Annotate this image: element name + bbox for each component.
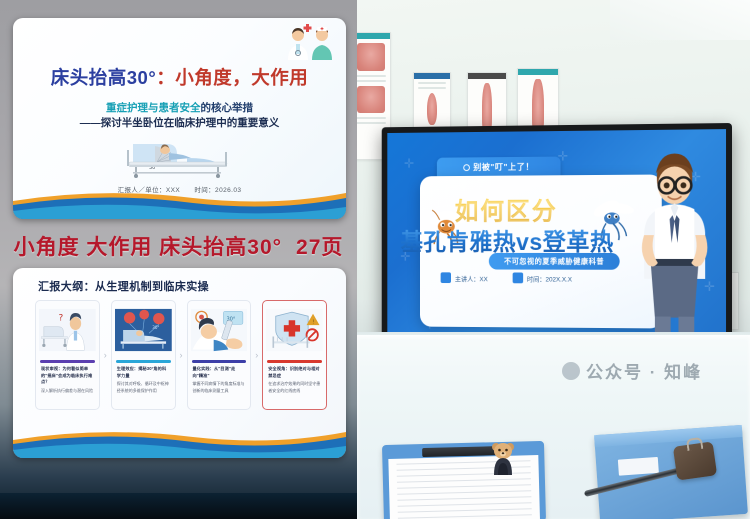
svg-text:?: ? [58, 313, 63, 323]
tv-speaker-meta: 主讲人：XX [441, 272, 488, 283]
card-thumbnail-bed-question: ? [39, 304, 96, 356]
tv-title-secondary: 基孔肯雅热vs登革热 [387, 222, 627, 257]
left-ppt-collage-panel: 床头抬高30°：小角度，大作用 重症护理与患者安全的核心举措 ——探讨半坐卧位在… [0, 0, 357, 519]
ceiling-corner [610, 0, 750, 40]
card-heading: 生理效应：揭秘30°角的科学力量 [115, 366, 172, 379]
clipboard-paper [388, 455, 540, 519]
card-thumbnail-physiology: 30° [115, 304, 172, 356]
slide1-title: 床头抬高30°：小角度，大作用 [13, 64, 346, 90]
outline-card-list: ? 现状审视：为何看似简单的"摇床"会成为临床执行难点？ 深入解析执行偏差与潜在… [35, 300, 327, 410]
chevron-right-icon: › [255, 350, 258, 360]
teddy-bear-icon [489, 440, 517, 476]
slide1-subtitle-highlight: 重症护理与患者安全 [106, 102, 201, 114]
chevron-right-icon: › [104, 350, 107, 360]
ppt-slide-outline[interactable]: 汇报大纲：从生理机制到临床实操 ? [13, 268, 346, 458]
slide2-wave-decoration [13, 424, 346, 458]
tv-time-label: 时间：202X.X.X [527, 273, 572, 283]
tv-time-meta: 时间：202X.X.X [512, 272, 571, 283]
plus-decor-icon: ✛ [404, 156, 414, 172]
banner-page-count: 27页 [296, 231, 343, 261]
circle-icon [463, 164, 470, 171]
right-photo-panel: ✛ ✛ ✛ ✛ ✛ ✛ ✛ ✛ 别被"叮"上了！ [357, 0, 750, 519]
tv-meta-row: 主讲人：XX 时间：202X.X.X [387, 272, 627, 283]
card-accent-bar [192, 360, 247, 363]
slide1-subtitle-rest: 的核心举措 [201, 102, 254, 114]
chevron-right-icon: › [180, 350, 183, 360]
banner-title: 小角度 大作用 床头抬高30° [14, 231, 282, 261]
clipboard [382, 441, 546, 519]
overlay-caption-banner: 小角度 大作用 床头抬高30° 27页 [0, 225, 357, 267]
card-body: 探讨其对呼吸、循环及中枢神经系统的多维保护作用 [115, 379, 172, 394]
card-body: 掌握不同病情下的角度标准与创新的临床测量工具 [191, 379, 248, 394]
svg-text:30°: 30° [152, 325, 159, 330]
tv-subtitle-pill: 不可忽视的夏季威胁健康科普 [489, 253, 620, 270]
hospital-bed-illustration: 30° [125, 136, 235, 178]
card-heading: 现状审视：为何看似简单的"摇床"会成为临床执行难点？ [39, 366, 96, 386]
svg-text:!: ! [312, 320, 314, 326]
card-heading: 安全视角：识别绝对与相对禁忌症 [266, 366, 323, 379]
leather-pouch [673, 441, 717, 480]
slide2-title: 汇报大纲：从生理机制到临床实操 [38, 278, 209, 294]
person-icon [441, 272, 451, 283]
tv-screen[interactable]: ✛ ✛ ✛ ✛ ✛ ✛ ✛ ✛ 别被"叮"上了！ [387, 129, 726, 366]
ppt-slide-cover[interactable]: 床头抬高30°：小角度，大作用 重症护理与患者安全的核心举措 ——探讨半坐卧位在… [13, 18, 346, 219]
slide1-title-red: ：小角度，大作用 [156, 67, 308, 88]
outline-card[interactable]: 30° 量化实践：从"目测"走向"精准" 掌握不同病情下的角度标准与创新的临床测… [187, 300, 252, 410]
cartoon-doctor-icon [627, 139, 722, 351]
slide1-subtitle: 重症护理与患者安全的核心举措 [13, 100, 346, 115]
doctor-nurse-icon [282, 23, 338, 61]
outline-card[interactable]: ! 安全视角：识别绝对与相对禁忌症 在追求治疗效果的同时坚守患者安全的红线底线 [262, 300, 327, 410]
tv-slide-tab-badge: 别被"叮"上了！ [437, 157, 561, 178]
outline-card[interactable]: 30° 生理效应：揭秘30°角的科学力量 探讨其对呼吸、循环及中枢神经系统的多维… [111, 300, 176, 410]
screenshot-root: 床头抬高30°：小角度，大作用 重症护理与患者安全的核心举措 ——探讨半坐卧位在… [0, 0, 750, 519]
card-heading: 量化实践：从"目测"走向"精准" [191, 366, 248, 379]
slide1-subtitle-2: ——探讨半坐卧位在临床护理中的重要意义 [13, 115, 346, 130]
outline-card[interactable]: ? 现状审视：为何看似简单的"摇床"会成为临床执行难点？ 深入解析执行偏差与潜在… [35, 300, 100, 410]
card-body: 在追求治疗效果的同时坚守患者安全的红线底线 [266, 379, 323, 394]
calendar-clock-icon [512, 272, 523, 283]
slide1-wave-decoration [13, 185, 346, 219]
slide1-title-blue: 床头抬高30° [51, 67, 156, 88]
tv-speaker-label: 主讲人：XX [455, 273, 488, 283]
tab-label: 别被"叮"上了！ [473, 161, 534, 173]
card-thumbnail-measurement: 30° [191, 304, 248, 356]
card-thumbnail-safety: ! [266, 304, 323, 356]
card-accent-bar [40, 360, 95, 363]
card-accent-bar [267, 360, 322, 363]
card-body: 深入解析执行偏差与潜在风险 [39, 386, 96, 394]
card-accent-bar [116, 360, 171, 363]
